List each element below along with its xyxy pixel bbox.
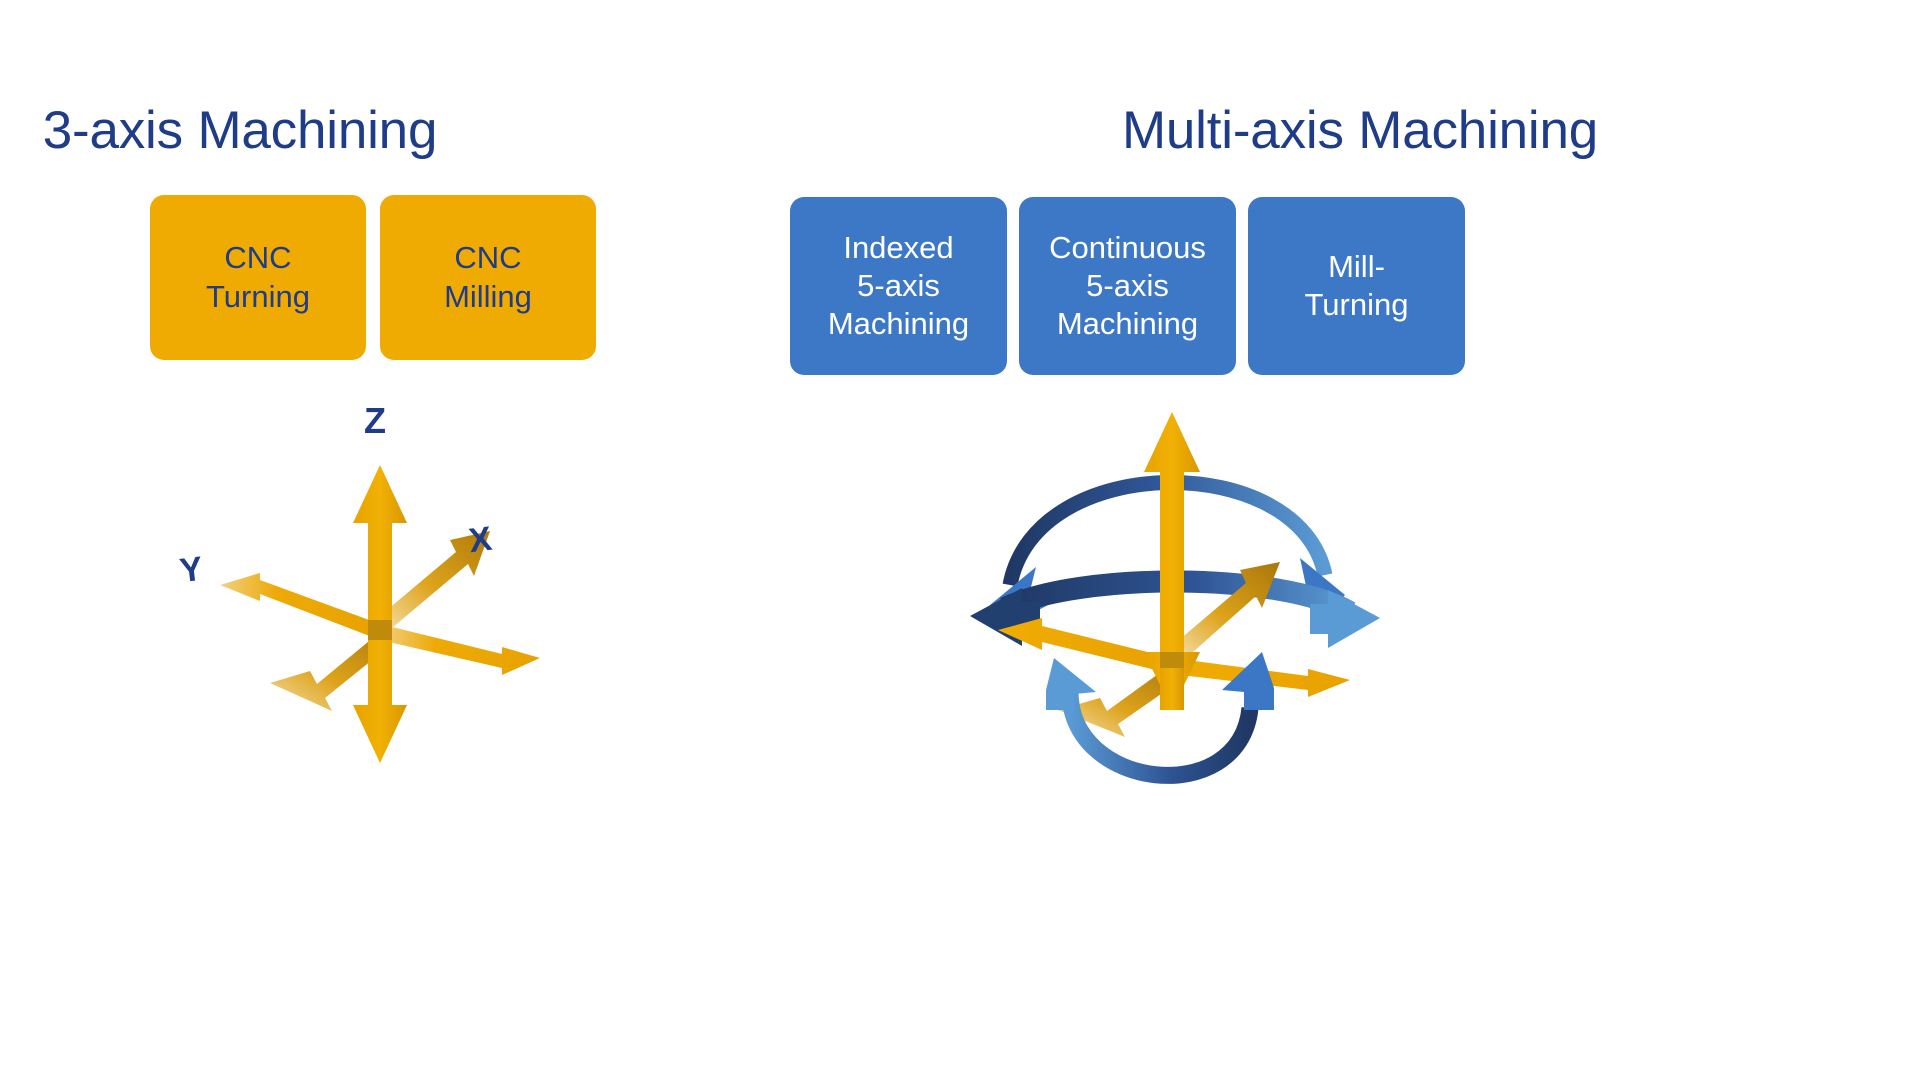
axis-origin [1160,652,1184,668]
right-card-row: Indexed 5-axis Machining Continuous 5-ax… [790,197,1465,375]
axis-label-x: X [467,520,494,561]
card-cnc-turning[interactable]: CNC Turning [150,195,366,360]
left-panel: 3-axis Machining CNC Turning CNC Milling [0,0,760,1081]
card-indexed-5-axis[interactable]: Indexed 5-axis Machining [790,197,1007,375]
left-card-row: CNC Turning CNC Milling [150,195,596,360]
card-cnc-turning-label: CNC Turning [206,239,310,315]
right-panel: Multi-axis Machining Indexed 5-axis Mach… [760,0,1920,1081]
axis-label-z: Z [364,400,386,442]
card-cnc-milling-label: CNC Milling [444,239,532,315]
three-axis-svg [160,395,600,815]
card-indexed-5-axis-label: Indexed 5-axis Machining [828,229,969,343]
three-axis-diagram: Z X Y [160,395,600,815]
card-mill-turning[interactable]: Mill- Turning [1248,197,1465,375]
page-title-3-axis: 3-axis Machining [0,100,620,161]
page-title-multi-axis: Multi-axis Machining [780,100,1920,161]
axis-label-y: Y [178,550,205,591]
multi-axis-diagram [950,390,1470,830]
card-cnc-milling[interactable]: CNC Milling [380,195,596,360]
card-mill-turning-label: Mill- Turning [1305,248,1409,324]
multi-axis-svg [950,390,1470,830]
card-continuous-5-axis-label: Continuous 5-axis Machining [1049,229,1206,343]
card-continuous-5-axis[interactable]: Continuous 5-axis Machining [1019,197,1236,375]
axis-origin [368,620,392,640]
